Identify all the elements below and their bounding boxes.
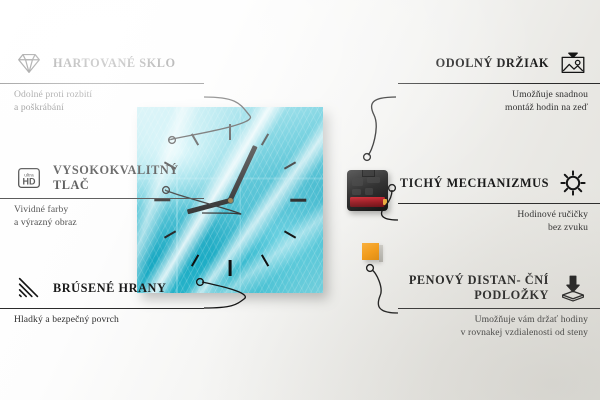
feature-divider	[398, 83, 600, 84]
picture-hanger-icon	[558, 48, 588, 78]
svg-text:HD: HD	[23, 177, 36, 187]
feature-silent-mechanism: TICHÝ MECHANIZMUS Hodinové ručičky bez z…	[398, 168, 588, 234]
feature-header: ultra HD VYSOKOKVALITNÝ TLAČ	[14, 163, 204, 193]
feature-divider	[0, 83, 204, 84]
clock-tick	[229, 260, 232, 276]
connector-holder	[368, 97, 396, 155]
press-pad-icon	[558, 273, 588, 303]
connector-node-foam	[367, 265, 374, 272]
feature-divider	[398, 308, 600, 309]
product-infographic: HARTOVANÉ SKLO Odolné proti rozbití a po…	[0, 0, 600, 400]
ultra-hd-icon: ultra HD	[14, 163, 44, 193]
mechanism-battery	[350, 197, 385, 207]
feature-title: BRÚSENÉ HRANY	[53, 281, 166, 296]
feature-subtitle: Umožňuje snadnou montáž hodin na zeď	[398, 89, 588, 114]
feature-title: HARTOVANÉ SKLO	[53, 56, 176, 71]
clock-tick	[229, 124, 232, 140]
feature-polished-edges: BRÚSENÉ HRANY Hladký a bezpečný povrch	[14, 273, 204, 327]
feature-divider	[398, 203, 600, 204]
feature-subtitle: Hladký a bezpečný povrch	[14, 314, 204, 327]
feature-header: ODOLNÝ DRŽIAK	[398, 48, 588, 78]
connector-node-mech	[389, 185, 396, 192]
clock-mechanism	[347, 170, 388, 211]
feature-subtitle: Umožňuje vám držať hodiny v rovnakej vzd…	[398, 314, 588, 339]
feature-title: ODOLNÝ DRŽIAK	[436, 56, 549, 71]
mechanism-relief	[367, 177, 380, 183]
connector-foam	[372, 270, 398, 313]
mechanism-shaft	[362, 170, 375, 177]
feature-subtitle: Vividné farby a výrazný obraz	[14, 204, 204, 229]
mechanism-relief	[352, 189, 361, 195]
mechanism-relief	[365, 188, 373, 195]
feature-durable-holder: ODOLNÝ DRŽIAK Umožňuje snadnou montáž ho…	[398, 48, 588, 114]
clock-hub	[228, 198, 233, 203]
gear-icon	[558, 168, 588, 198]
feature-subtitle: Odolné proti rozbití a poškrábání	[14, 89, 204, 114]
feature-subtitle: Hodinové ručičky bez zvuku	[398, 209, 588, 234]
brushed-edges-icon	[14, 273, 44, 303]
feature-header: HARTOVANÉ SKLO	[14, 48, 204, 78]
feature-header: TICHÝ MECHANIZMUS	[398, 168, 588, 198]
feature-title: TICHÝ MECHANIZMUS	[400, 176, 549, 191]
feature-tempered-glass: HARTOVANÉ SKLO Odolné proti rozbití a po…	[14, 48, 204, 114]
feature-foam-spacers: PENOVÝ DISTAN- ČNÍ PODLOŽKY Umožňuje vám…	[398, 273, 588, 339]
feature-title: VYSOKOKVALITNÝ TLAČ	[53, 163, 204, 193]
feature-divider	[0, 308, 204, 309]
foam-spacer-pad	[362, 243, 379, 260]
feature-high-quality-print: ultra HD VYSOKOKVALITNÝ TLAČ Vividné far…	[14, 163, 204, 229]
clock-tick	[290, 199, 306, 202]
diamond-icon	[14, 48, 44, 78]
mechanism-relief	[352, 178, 363, 186]
connector-node-holder	[364, 154, 371, 161]
feature-title: PENOVÝ DISTAN- ČNÍ PODLOŽKY	[398, 273, 549, 303]
feature-header: PENOVÝ DISTAN- ČNÍ PODLOŽKY	[398, 273, 588, 303]
feature-divider	[0, 198, 204, 199]
feature-header: BRÚSENÉ HRANY	[14, 273, 204, 303]
